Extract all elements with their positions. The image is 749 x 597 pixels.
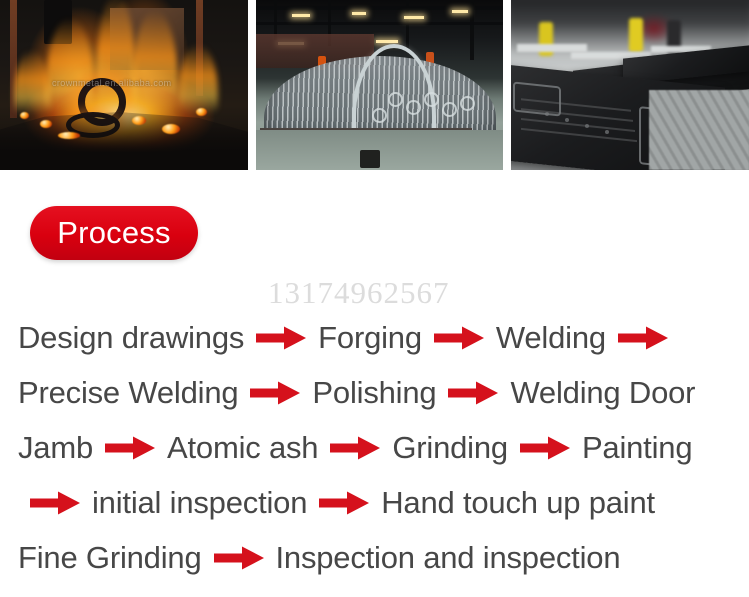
floor-cart xyxy=(360,150,380,168)
door-window-frame xyxy=(513,81,561,116)
arrow-right-icon xyxy=(214,545,264,571)
scrollwork xyxy=(388,92,403,107)
door-rivet xyxy=(585,124,589,128)
process-step: Hand touch up paint xyxy=(381,487,655,518)
ceiling-lamp xyxy=(292,14,310,17)
ember xyxy=(162,124,180,134)
phone-number-watermark: 13174962567 xyxy=(268,275,450,311)
process-step: Painting xyxy=(582,432,692,463)
arrow-right-icon xyxy=(250,380,300,406)
ember xyxy=(132,116,146,125)
photo-strip: crownmetal.en.alibaba.com xyxy=(0,0,749,170)
process-step: initial inspection xyxy=(92,487,307,518)
process-flow-line: Fine GrindingInspection and inspection xyxy=(18,530,734,585)
work-table xyxy=(517,44,587,52)
scrollwork xyxy=(424,92,439,107)
door-rivet xyxy=(565,118,569,122)
roof-column xyxy=(470,0,474,60)
process-step: Design drawings xyxy=(18,322,244,353)
process-step: Fine Grinding xyxy=(18,542,202,573)
arrow-right-icon xyxy=(105,435,155,461)
process-flow-line: Design drawingsForgingWelding xyxy=(18,310,734,365)
door-rivet xyxy=(605,130,609,134)
process-step: Polishing xyxy=(312,377,436,408)
ember xyxy=(20,112,29,119)
process-badge-label: Process xyxy=(57,215,170,251)
arrow-right-icon xyxy=(618,325,668,351)
forging-photo: crownmetal.en.alibaba.com xyxy=(0,0,248,170)
scrollwork xyxy=(442,102,457,117)
scrollwork xyxy=(460,96,475,111)
ember xyxy=(40,120,52,128)
process-step: Welding xyxy=(496,322,606,353)
arrow-right-icon xyxy=(434,325,484,351)
factory-floor xyxy=(649,90,749,170)
scrollwork xyxy=(372,108,387,123)
welding-photo xyxy=(256,0,503,170)
arrow-right-icon xyxy=(330,435,380,461)
ceiling-lamp xyxy=(376,40,398,43)
process-step: Atomic ash xyxy=(167,432,318,463)
process-flow-list: Design drawingsForgingWeldingPrecise Wel… xyxy=(18,310,734,585)
process-step: Jamb xyxy=(18,432,93,463)
ceiling-lamp xyxy=(404,16,424,19)
process-step: Welding Door xyxy=(510,377,695,408)
scrollwork xyxy=(406,100,421,115)
process-step: Grinding xyxy=(392,432,508,463)
ceiling-lamp xyxy=(452,10,468,13)
arrow-right-icon xyxy=(319,490,369,516)
process-step: Inspection and inspection xyxy=(276,542,621,573)
ember xyxy=(196,108,207,116)
process-flow-line: initial inspectionHand touch up paint xyxy=(18,475,734,530)
arrow-right-icon xyxy=(30,490,80,516)
arrow-right-icon xyxy=(448,380,498,406)
process-step: Precise Welding xyxy=(18,377,238,408)
roof-beam xyxy=(256,22,503,25)
arrow-right-icon xyxy=(256,325,306,351)
ceiling-lamp xyxy=(352,12,366,15)
arrow-right-icon xyxy=(520,435,570,461)
process-badge: Process xyxy=(30,206,198,260)
photo-watermark: crownmetal.en.alibaba.com xyxy=(52,78,172,88)
worker-yellow xyxy=(629,18,643,52)
process-flow-line: JambAtomic ashGrindingPainting xyxy=(18,420,734,475)
process-step: Forging xyxy=(318,322,422,353)
roof-column xyxy=(406,0,409,48)
painting-photo xyxy=(511,0,749,170)
ember xyxy=(58,132,80,139)
process-flow-line: Precise WeldingPolishingWelding Door xyxy=(18,365,734,420)
